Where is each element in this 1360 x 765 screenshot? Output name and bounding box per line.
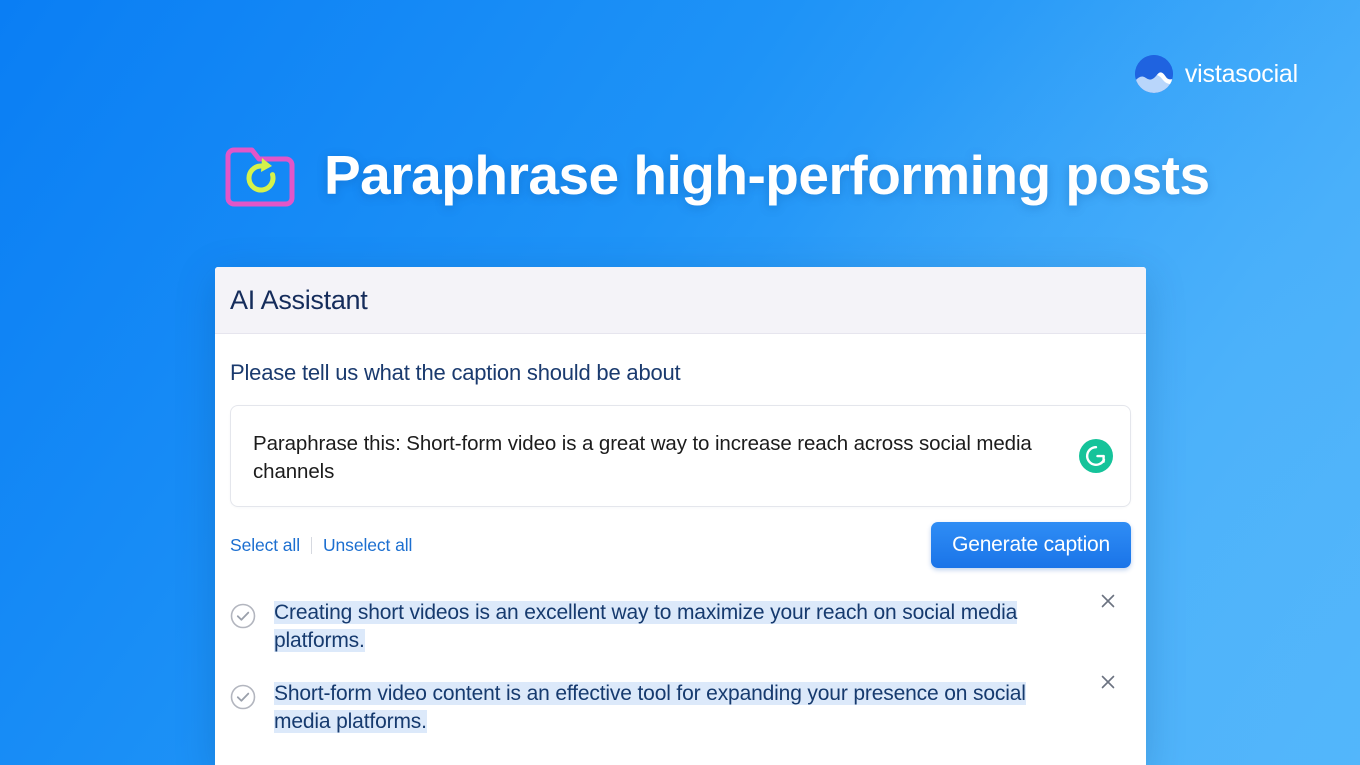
check-circle-icon[interactable] — [230, 603, 256, 629]
check-circle-icon[interactable] — [230, 684, 256, 710]
grammarly-icon[interactable] — [1079, 439, 1113, 473]
card-body: Please tell us what the caption should b… — [215, 334, 1146, 752]
result-item[interactable]: Short-form video content is an effective… — [230, 671, 1131, 752]
results-list: Creating short videos is an excellent wa… — [230, 590, 1131, 752]
caption-prompt-value: Paraphrase this: Short-form video is a g… — [253, 430, 1064, 486]
select-all-link[interactable]: Select all — [230, 535, 300, 556]
hero-heading: Paraphrase high-performing posts — [222, 140, 1210, 210]
page-title: Paraphrase high-performing posts — [324, 143, 1210, 207]
folder-refresh-icon — [222, 140, 298, 210]
result-text-value: Creating short videos is an excellent wa… — [274, 601, 1017, 652]
generate-caption-button[interactable]: Generate caption — [931, 522, 1131, 568]
brand-name: vistasocial — [1185, 60, 1298, 89]
result-text-value: Short-form video content is an effective… — [274, 682, 1026, 733]
unselect-all-link[interactable]: Unselect all — [323, 535, 412, 556]
result-item[interactable]: Creating short videos is an excellent wa… — [230, 590, 1131, 671]
result-text: Short-form video content is an effective… — [274, 680, 1131, 736]
brand-logo: vistasocial — [1135, 55, 1298, 93]
card-title: AI Assistant — [230, 285, 367, 316]
vistasocial-logo-icon — [1135, 55, 1173, 93]
link-divider — [311, 537, 312, 554]
close-icon[interactable] — [1097, 590, 1119, 612]
actions-row: Select all Unselect all Generate caption — [230, 522, 1131, 568]
card-header: AI Assistant — [215, 267, 1146, 334]
result-text: Creating short videos is an excellent wa… — [274, 599, 1131, 655]
selection-links: Select all Unselect all — [230, 535, 412, 556]
prompt-label: Please tell us what the caption should b… — [230, 360, 1131, 386]
close-icon[interactable] — [1097, 671, 1119, 693]
ai-assistant-card: AI Assistant Please tell us what the cap… — [215, 267, 1146, 765]
caption-prompt-input[interactable]: Paraphrase this: Short-form video is a g… — [230, 405, 1131, 507]
